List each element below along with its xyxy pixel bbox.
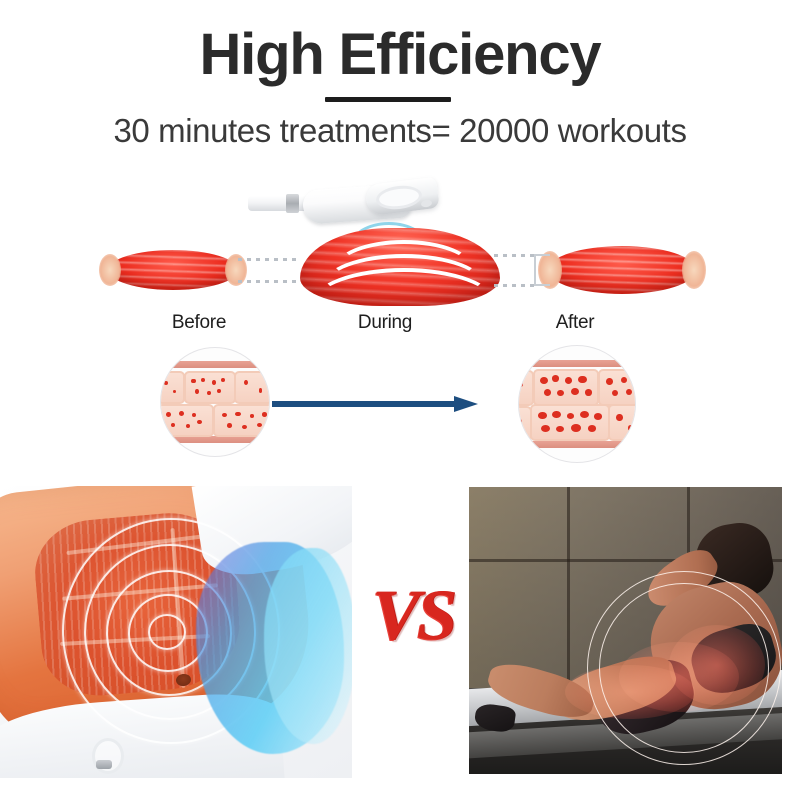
nucleus	[588, 425, 596, 431]
nucleus	[606, 378, 613, 385]
nucleus	[541, 425, 550, 432]
situp-workout-photo	[466, 484, 785, 777]
nucleus	[552, 375, 559, 381]
cell-box	[234, 371, 269, 405]
arrow-shaft	[272, 401, 458, 407]
cell-membrane-top	[161, 361, 269, 368]
nucleus	[164, 381, 168, 385]
nucleus	[578, 376, 586, 383]
nucleus	[519, 419, 522, 424]
cell-circle-after	[519, 346, 635, 462]
nucleus	[259, 388, 262, 392]
cell-box	[533, 369, 599, 406]
nucleus	[628, 425, 634, 431]
cell-comparison-row	[0, 338, 800, 468]
cell-box	[530, 404, 609, 441]
nucleus	[567, 413, 575, 419]
nucleus	[192, 413, 196, 417]
nucleus	[173, 390, 176, 394]
cell-stack-after	[519, 360, 635, 448]
nucleus	[557, 390, 564, 396]
nucleus	[244, 380, 248, 385]
page-title: High Efficiency	[0, 24, 800, 86]
nucleus	[552, 411, 561, 418]
cell-membrane-bottom	[519, 441, 635, 448]
nucleus	[195, 389, 199, 393]
nucleus	[201, 378, 205, 382]
connector-dots-after-bottom	[494, 284, 534, 287]
nucleus	[191, 379, 195, 384]
connector-bracket-vertical	[534, 254, 536, 286]
device-cable-connector	[96, 760, 112, 769]
nucleus	[556, 426, 564, 432]
connector-dots-before-bottom	[238, 280, 300, 283]
header-section: High Efficiency 30 minutes treatments= 2…	[0, 0, 800, 170]
cell-membrane-bottom	[161, 436, 269, 443]
nucleus	[250, 414, 255, 418]
nucleus	[212, 380, 216, 385]
cell-box	[608, 404, 635, 441]
nucleus	[621, 377, 627, 383]
nucleus	[179, 411, 184, 416]
stage-label-after: After	[505, 312, 645, 334]
connector-bracket-top	[534, 254, 550, 256]
arrow-head	[454, 396, 478, 412]
nucleus	[242, 425, 247, 429]
focus-circle-inner	[599, 583, 769, 753]
nucleus	[612, 390, 618, 396]
cell-box	[161, 404, 214, 438]
nucleus	[616, 414, 622, 421]
nucleus	[257, 423, 262, 427]
muscle-bundle-before	[108, 250, 238, 290]
cell-box	[161, 371, 185, 405]
nucleus	[171, 423, 176, 428]
page-subtitle: 30 minutes treatments= 20000 workouts	[0, 112, 800, 150]
treatment-vs-workout-comparison: VS	[0, 484, 800, 800]
cell-stack-before	[161, 361, 269, 443]
nucleus	[571, 424, 581, 432]
device-collar	[286, 194, 299, 213]
cell-box	[598, 369, 635, 406]
nucleus	[565, 377, 572, 384]
title-underline	[325, 97, 451, 102]
connector-bracket-bottom	[534, 284, 550, 286]
nucleus	[571, 388, 579, 395]
nucleus	[207, 391, 211, 396]
stage-label-before: Before	[129, 312, 269, 334]
nucleus	[222, 413, 227, 417]
nucleus	[262, 412, 267, 416]
abdomen-treatment-photo	[0, 486, 352, 778]
nucleus	[235, 412, 240, 417]
nucleus	[197, 420, 202, 424]
wall-seam-vertical	[567, 487, 570, 694]
cell-box	[184, 371, 236, 405]
nucleus	[217, 389, 221, 393]
cell-box	[519, 370, 534, 406]
stage-label-during: During	[315, 312, 455, 334]
nucleus	[580, 411, 589, 418]
nucleus	[585, 389, 592, 395]
muscle-bundle-after	[548, 246, 696, 294]
nucleus	[540, 377, 548, 384]
progression-arrow-icon	[272, 396, 480, 412]
cell-membrane-top	[519, 360, 635, 367]
nucleus	[626, 389, 632, 395]
nucleus	[538, 412, 546, 419]
nucleus	[221, 378, 225, 382]
nucleus	[544, 389, 551, 396]
nucleus	[186, 424, 190, 428]
connector-dots-after-top	[494, 254, 534, 257]
vs-label: VS	[361, 576, 465, 654]
cell-circle-before	[161, 348, 269, 456]
nucleus	[519, 382, 523, 387]
nucleus	[594, 413, 602, 419]
nucleus	[227, 423, 232, 428]
connector-dots-before-top	[238, 258, 300, 261]
nucleus	[166, 412, 171, 417]
cell-box	[213, 404, 269, 438]
